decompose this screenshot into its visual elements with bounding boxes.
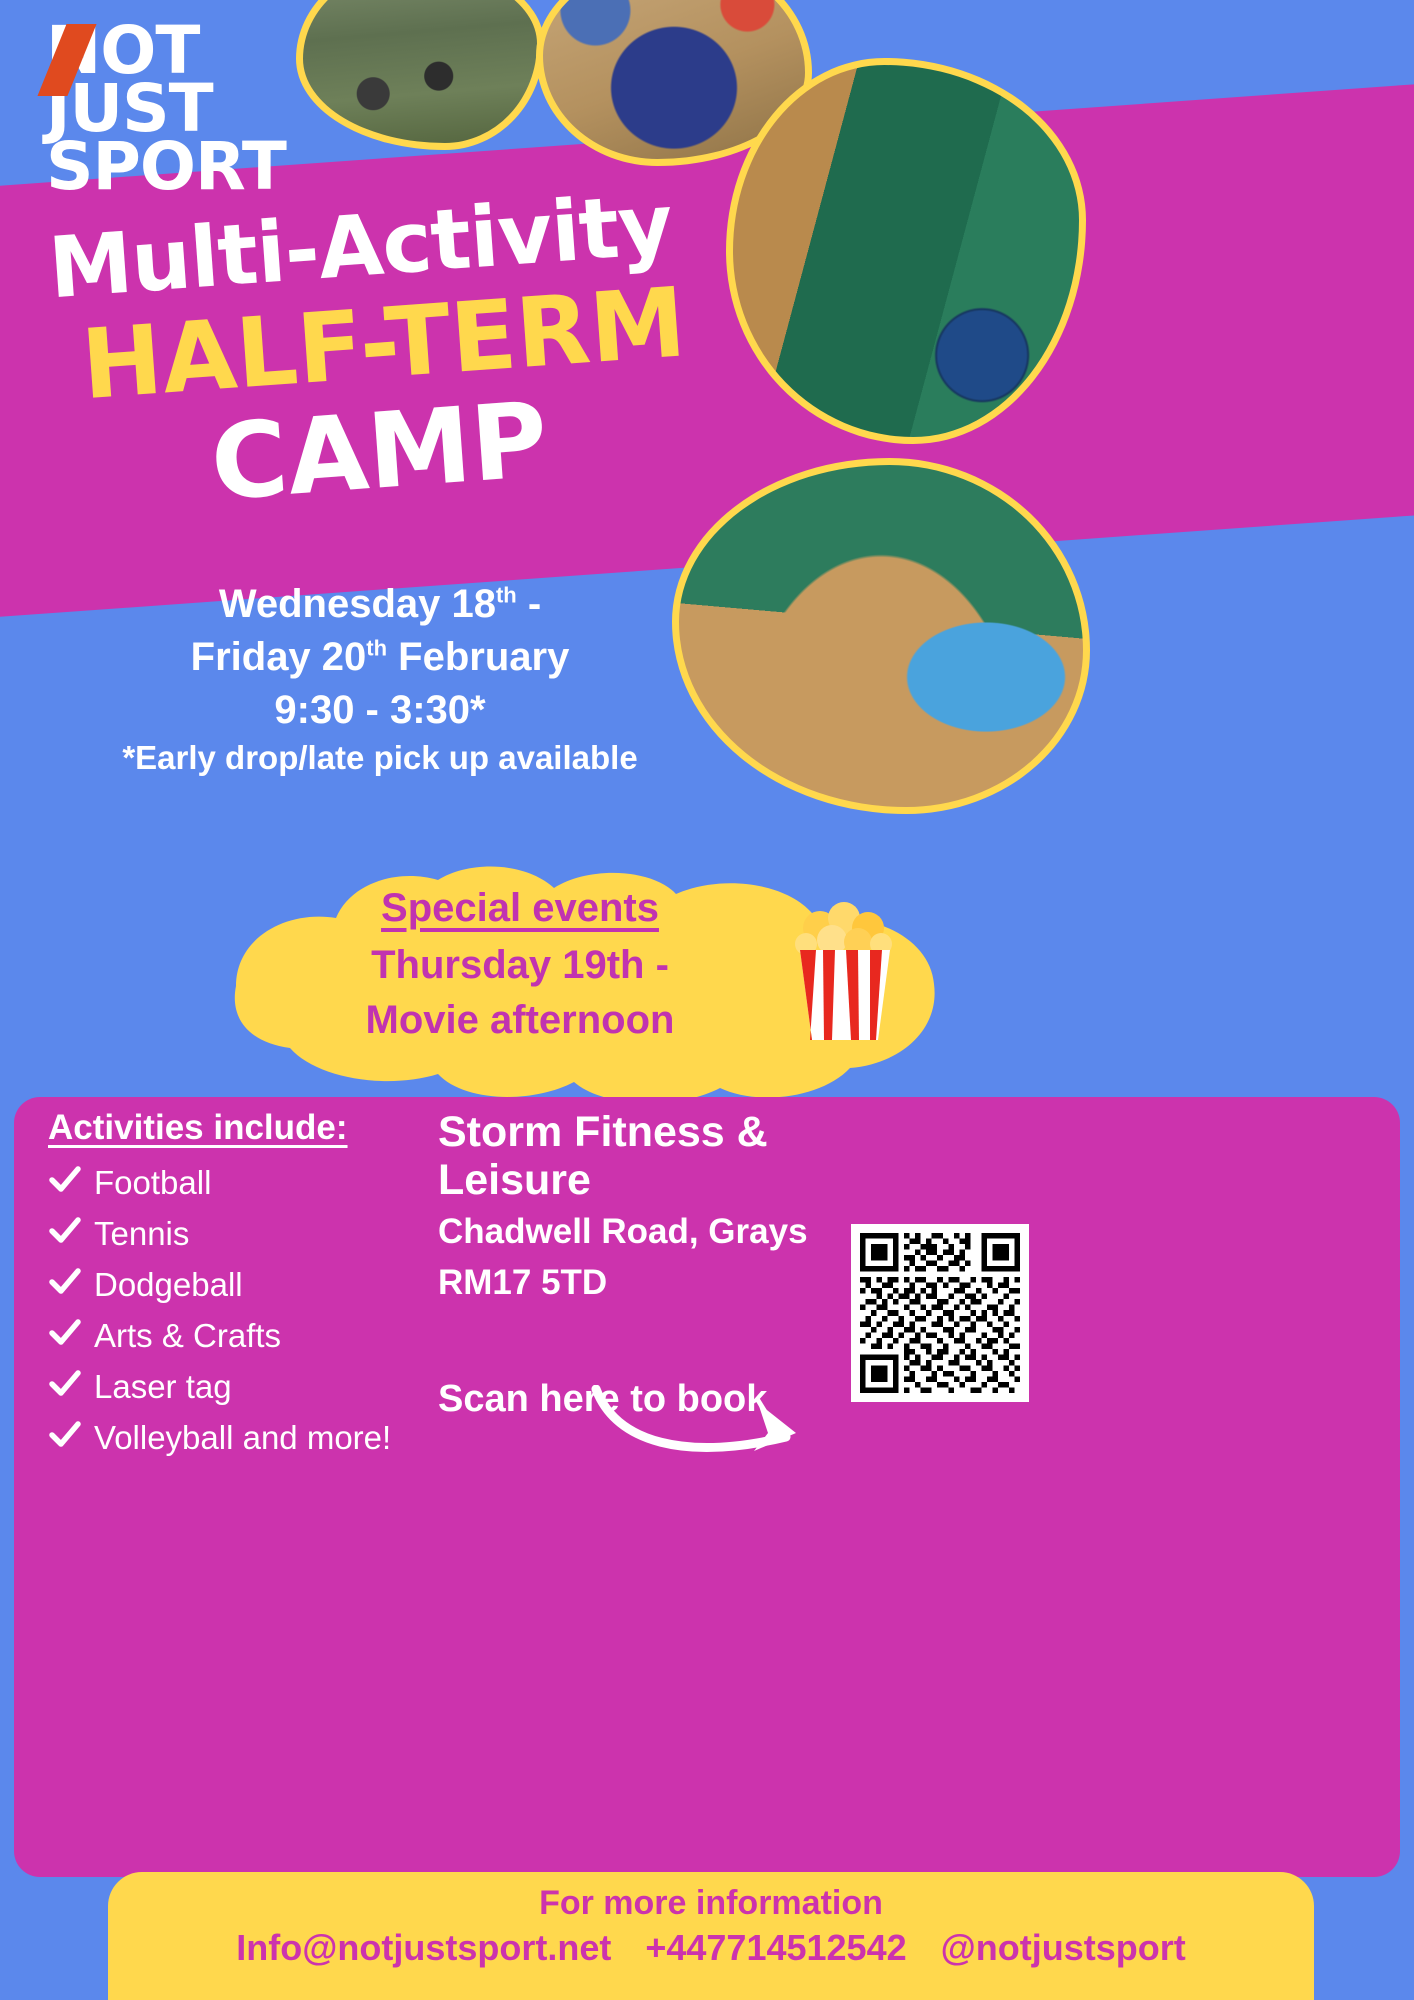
check-icon <box>48 1213 82 1255</box>
footer-contacts: Info@notjustsport.net +447714512542 @not… <box>108 1927 1314 1969</box>
brand-logo: NOT JUST SPORT <box>46 22 286 196</box>
special-events-text: Special events Thursday 19th - Movie aft… <box>240 886 800 1043</box>
check-icon <box>48 1162 82 1204</box>
footer-social-handle[interactable]: @notjustsport <box>941 1927 1186 1969</box>
footer-phone[interactable]: +447714512542 <box>645 1927 906 1969</box>
date-month: February <box>387 635 569 679</box>
venue-block: Storm Fitness & Leisure Chadwell Road, G… <box>438 1108 908 1421</box>
date-start-suffix: th <box>496 583 517 608</box>
curved-arrow-icon <box>590 1385 830 1465</box>
activity-label: Volleyball and more! <box>94 1419 391 1457</box>
popcorn-icon <box>786 894 904 1044</box>
activities-block: Activities include: Football Tennis Dodg… <box>48 1108 448 1468</box>
special-events-heading: Special events <box>240 886 800 931</box>
date-dash: - <box>517 582 541 626</box>
venue-name: Storm Fitness & Leisure <box>438 1108 908 1204</box>
footer-heading: For more information <box>108 1884 1314 1923</box>
footer-contact-bar: For more information Info@notjustsport.n… <box>108 1872 1314 2000</box>
dropoff-note: *Early drop/late pick up available <box>0 736 760 780</box>
photo-tennis-outdoors <box>296 0 544 150</box>
time-range: 9:30 - 3:30* <box>0 684 760 737</box>
venue-address-line-1: Chadwell Road, Grays <box>438 1210 908 1255</box>
list-item: Laser tag <box>48 1366 448 1408</box>
special-events-activity: Movie afternoon <box>240 998 800 1043</box>
qr-code-graphic <box>860 1233 1020 1393</box>
check-icon <box>48 1366 82 1408</box>
date-end: Friday 20 <box>191 635 367 679</box>
activity-label: Arts & Crafts <box>94 1317 281 1355</box>
poster-title: Multi-Activity HALF-TERM CAMP <box>0 169 770 539</box>
activities-heading: Activities include: <box>48 1108 448 1148</box>
activity-label: Football <box>94 1164 211 1202</box>
check-icon <box>48 1264 82 1306</box>
date-line-2: Friday 20th February <box>0 631 760 684</box>
date-end-suffix: th <box>366 635 387 660</box>
qr-code[interactable] <box>851 1224 1029 1402</box>
list-item: Arts & Crafts <box>48 1315 448 1357</box>
list-item: Volleyball and more! <box>48 1417 448 1459</box>
poster-canvas: NOT JUST SPORT Multi-Activity HALF-TERM … <box>0 0 1414 2000</box>
list-item: Dodgeball <box>48 1264 448 1306</box>
special-events-day: Thursday 19th - <box>240 943 800 988</box>
venue-address-line-2: RM17 5TD <box>438 1261 908 1306</box>
list-item: Football <box>48 1162 448 1204</box>
activity-label: Dodgeball <box>94 1266 243 1304</box>
activity-label: Laser tag <box>94 1368 232 1406</box>
activities-list: Football Tennis Dodgeball Arts & Crafts <box>48 1162 448 1459</box>
footer-email[interactable]: Info@notjustsport.net <box>236 1927 611 1969</box>
activity-label: Tennis <box>94 1215 189 1253</box>
logo-line-not: NOT <box>46 22 286 80</box>
check-icon <box>48 1315 82 1357</box>
list-item: Tennis <box>48 1213 448 1255</box>
dates-block: Wednesday 18th - Friday 20th February 9:… <box>0 578 760 780</box>
date-line-1: Wednesday 18th - <box>0 578 760 631</box>
logo-text-sport: SPORT <box>46 138 286 196</box>
check-icon <box>48 1417 82 1459</box>
date-start: Wednesday 18 <box>219 582 496 626</box>
